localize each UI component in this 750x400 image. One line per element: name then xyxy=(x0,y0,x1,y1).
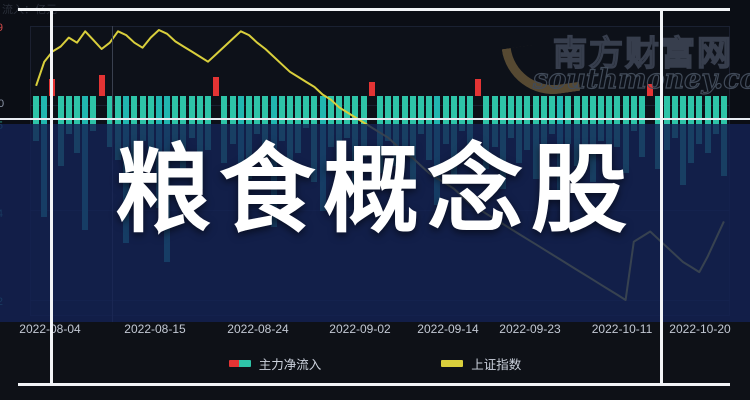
x-tick-label: 2022-09-14 xyxy=(417,322,478,336)
legend-swatch-icon xyxy=(229,360,251,367)
frame-border-right xyxy=(660,8,663,386)
y-tick-39: 39 xyxy=(0,22,3,34)
chart-legend: 主力净流入 上证指数 xyxy=(0,352,750,374)
chart-screenshot: 流入：亿元 39 0 25 44 62 2022-08-042022-08-15… xyxy=(0,0,750,400)
zero-reference-line xyxy=(0,118,750,120)
x-tick-label: 2022-09-02 xyxy=(329,322,390,336)
x-axis-tick-labels: 2022-08-042022-08-152022-08-242022-09-02… xyxy=(0,322,750,344)
x-tick-label: 2022-10-11 xyxy=(592,322,653,336)
x-tick-label: 2022-08-15 xyxy=(124,322,185,336)
legend-label: 主力净流入 xyxy=(259,354,322,373)
legend-label: 上证指数 xyxy=(471,354,521,373)
bottom-strip xyxy=(0,386,750,400)
x-tick-label: 2022-08-24 xyxy=(227,322,288,336)
x-tick-label: 2022-10-20 xyxy=(669,322,730,336)
legend-item-main-net-inflow[interactable]: 主力净流入 xyxy=(229,354,322,373)
frame-border-left xyxy=(50,8,53,386)
legend-item-shanghai-index[interactable]: 上证指数 xyxy=(441,354,521,373)
page-title: 粮食概念股 xyxy=(0,134,750,246)
frame-border-top xyxy=(18,8,730,11)
x-tick-label: 2022-09-23 xyxy=(499,322,560,336)
legend-swatch-icon xyxy=(441,360,463,367)
y-tick-0: 0 xyxy=(0,98,4,110)
frame-border-bottom xyxy=(18,383,730,386)
